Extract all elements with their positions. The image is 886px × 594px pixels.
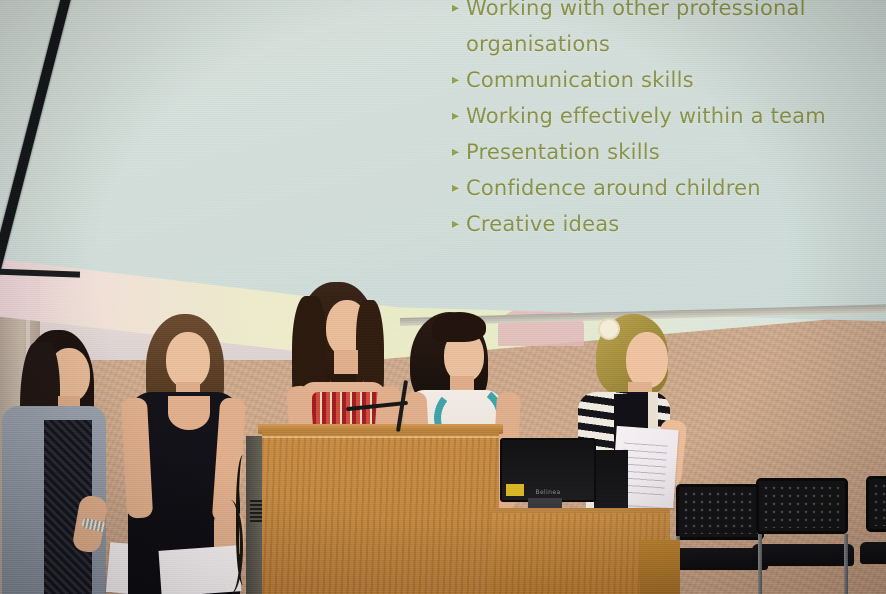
slide-bullet-item: ▸ Presentation skills	[452, 134, 886, 170]
face	[166, 332, 210, 388]
slide-bullet-item: ▸ Working effectively within a team	[452, 98, 886, 134]
bullet-arrow-icon: ▸	[452, 206, 466, 242]
monitor-sticker	[506, 484, 524, 496]
flower-hair-clip	[600, 320, 618, 338]
dress-neckline	[168, 396, 210, 430]
slide-bullet-text: Working effectively within a team	[466, 98, 886, 134]
slide-bullet-item: ▸ Creative ideas	[452, 206, 886, 242]
slide-bullet-item-wrap: organisations	[452, 26, 886, 62]
face	[626, 332, 668, 388]
chair-leg	[844, 534, 848, 594]
bullet-arrow-icon: ▸	[452, 0, 466, 26]
slide-bullet-text: Presentation skills	[466, 134, 886, 170]
chair-backrest	[756, 478, 848, 534]
neck	[334, 350, 358, 374]
slide-bullet-item: ▸ Confidence around children	[452, 170, 886, 206]
secondary-desk-side	[640, 540, 680, 594]
bullet-arrow-icon: ▸	[452, 98, 466, 134]
slide-bullet-text: organisations	[466, 26, 886, 62]
bullet-arrow-icon: ▸	[452, 62, 466, 98]
slide-bullet-text: Creative ideas	[466, 206, 886, 242]
bullet-arrow-icon: ▸	[452, 170, 466, 206]
bullet-arrow-icon: ▸	[452, 134, 466, 170]
hair-fringe	[432, 312, 486, 342]
chair-seat	[860, 542, 886, 564]
slide-bullet-item: ▸ Working with other professional	[452, 0, 886, 26]
slide-bullet-text: Working with other professional	[466, 0, 886, 26]
chair-backrest	[676, 484, 764, 540]
chair-leg	[758, 534, 762, 594]
slide-bullet-text: Communication skills	[466, 62, 886, 98]
chair-backrest	[866, 476, 886, 532]
slide-bullet-item: ▸ Communication skills	[452, 62, 886, 98]
presentation-photo: ▸ Working with other professional organi…	[0, 0, 886, 594]
slide-bullet-list: ▸ Working with other professional organi…	[452, 0, 886, 242]
lectern	[262, 430, 499, 594]
chair-seat	[752, 544, 854, 566]
slide-bullet-text: Confidence around children	[466, 170, 886, 206]
cable-secondary	[218, 500, 243, 594]
